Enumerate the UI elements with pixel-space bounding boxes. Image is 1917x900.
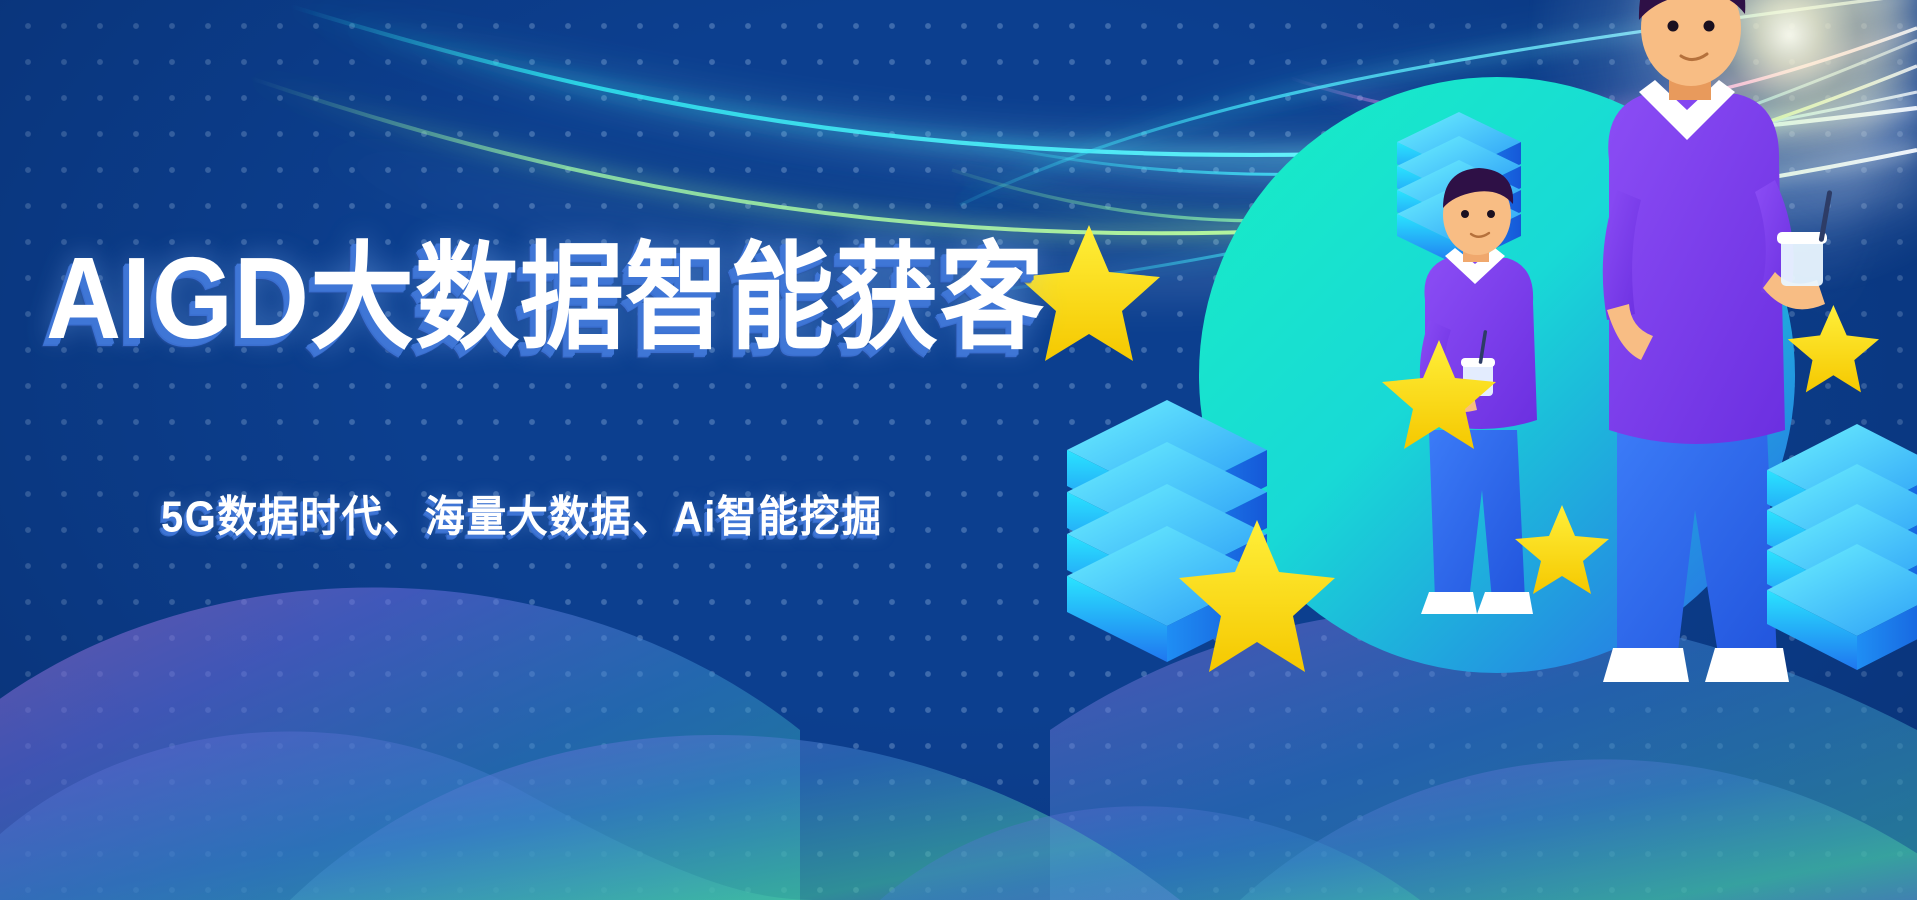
banner-subheadline: 5G数据时代、海量大数据、Ai智能挖掘 [161, 482, 883, 545]
background-vignette [0, 0, 1917, 900]
banner-headline: AIGD大数据智能获客 [46, 236, 1056, 362]
promo-banner: AIGD大数据智能获客 5G数据时代、海量大数据、Ai智能挖掘 [0, 0, 1917, 900]
banner-copy: AIGD大数据智能获客 5G数据时代、海量大数据、Ai智能挖掘 [46, 236, 1056, 348]
